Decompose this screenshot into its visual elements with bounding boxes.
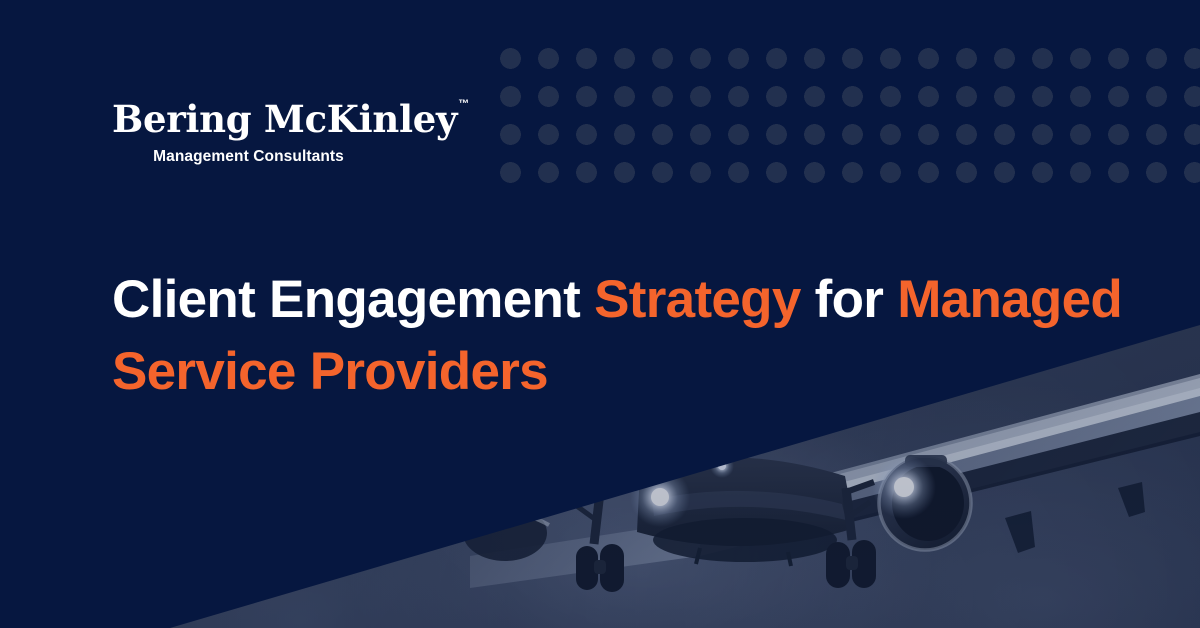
marketing-banner: Bering McKinley™ Management Consultants … <box>0 0 1200 628</box>
headline-segment-strategy: Strategy <box>594 270 815 329</box>
headline-segment-service-providers: Service Providers <box>112 342 548 401</box>
brand-logo: Bering McKinley™ Management Consultants <box>112 100 412 166</box>
page-title: Client Engagement Strategy for ManagedSe… <box>112 264 1182 408</box>
logo-wordmark: Bering McKinley™ <box>112 100 412 139</box>
logo-tagline: Management Consultants <box>112 148 385 166</box>
headline-segment-managed: Managed <box>897 270 1122 329</box>
headline-segment-for: for <box>815 270 898 329</box>
dot-grid-decoration <box>500 48 1200 196</box>
logo-wordmark-text: Bering McKinley <box>112 97 457 141</box>
trademark-symbol: ™ <box>458 98 469 110</box>
headline-segment-client-engagement: Client Engagement <box>112 270 594 329</box>
